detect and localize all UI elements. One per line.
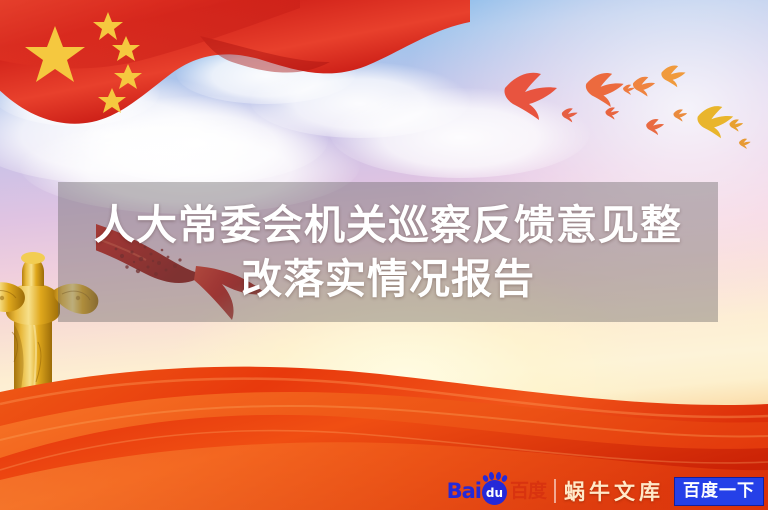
poster-canvas: 人大常委会机关巡察反馈意见整 改落实情况报告 Bai du 百度 蜗牛文库 百度… (0, 0, 768, 510)
cloud-shape (330, 88, 590, 178)
baidu-logo-cn: 百度 (510, 478, 546, 504)
poster-title-line-1: 人大常委会机关巡察反馈意见整 (94, 199, 682, 251)
flag-stars (25, 12, 142, 113)
cloud-shape (0, 74, 260, 184)
baidu-search-button[interactable]: 百度一下 (674, 477, 764, 506)
watermark-divider (554, 479, 556, 503)
cloud-shape (250, 62, 470, 138)
footer-watermark-bar: Bai du 百度 蜗牛文库 百度一下 (447, 474, 764, 508)
paw-toes-icon (483, 472, 507, 482)
cloud-shape (0, 56, 160, 126)
baidu-logo[interactable]: Bai du 百度 (447, 478, 546, 504)
baidu-logo-paw-text: du (486, 487, 503, 499)
poster-title-band: 人大常委会机关巡察反馈意见整 改落实情况报告 (58, 182, 718, 322)
cloud-shape (176, 42, 356, 104)
poster-title-line-2: 改落实情况报告 (241, 253, 535, 305)
baidu-paw-icon: du (482, 480, 507, 505)
flying-doves-flock (495, 52, 765, 164)
baidu-logo-latin: Bai (447, 478, 481, 504)
chinese-national-flag (0, 0, 470, 200)
cloud-shape (78, 96, 328, 184)
watermark-site-title: 蜗牛文库 (564, 476, 664, 506)
